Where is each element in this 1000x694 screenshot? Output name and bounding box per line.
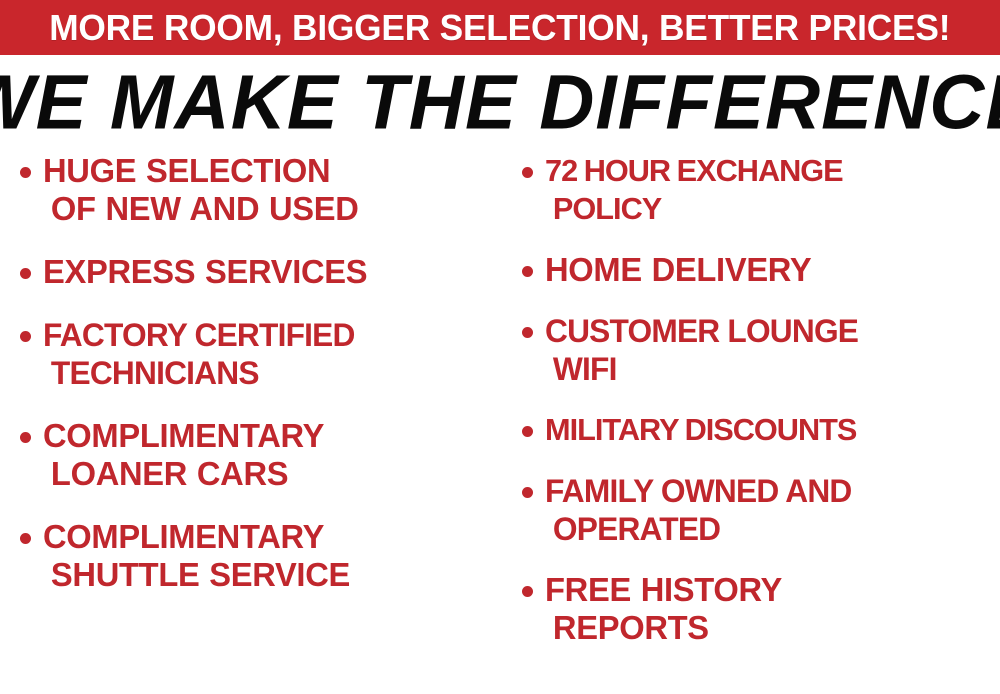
list-item-line: HUGE SELECTION bbox=[43, 152, 488, 190]
list-item: COMPLIMENTARY LOANER CARS bbox=[20, 417, 492, 493]
list-item-line: TECHNICIANS bbox=[43, 354, 488, 392]
bullet-dot-icon bbox=[20, 331, 31, 342]
bullet-dot-icon bbox=[522, 167, 533, 178]
list-item-label: EXPRESS SERVICES bbox=[43, 253, 488, 291]
bullet-dot-icon bbox=[522, 266, 533, 277]
list-item-label: FACTORY CERTIFIED TECHNICIANS bbox=[43, 316, 488, 392]
bullet-dot-icon bbox=[20, 432, 31, 443]
list-item: CUSTOMER LOUNGE WIFI bbox=[522, 312, 996, 388]
bullet-dot-icon bbox=[522, 426, 533, 437]
list-item-label: COMPLIMENTARY LOANER CARS bbox=[43, 417, 488, 493]
list-item: FAMILY OWNED AND OPERATED bbox=[522, 472, 996, 548]
banner-headline-text: MORE ROOM, BIGGER SELECTION, BETTER PRIC… bbox=[49, 10, 950, 46]
list-item-label: HUGE SELECTION OF NEW AND USED bbox=[43, 152, 488, 228]
list-item: FREE HISTORY REPORTS bbox=[522, 571, 996, 647]
list-item-label: FAMILY OWNED AND OPERATED bbox=[545, 472, 991, 548]
bullet-dot-icon bbox=[20, 167, 31, 178]
list-item-line: EXPRESS SERVICES bbox=[43, 253, 488, 291]
benefits-column-right: 72 HOUR EXCHANGE POLICY HOME DELIVERY CU… bbox=[500, 152, 1000, 694]
list-item: MILITARY DISCOUNTS bbox=[522, 411, 996, 449]
list-item-line: SHUTTLE SERVICE bbox=[43, 556, 488, 594]
list-item-line: 72 HOUR EXCHANGE bbox=[545, 152, 991, 190]
list-item-label: COMPLIMENTARY SHUTTLE SERVICE bbox=[43, 518, 488, 594]
list-item-label: HOME DELIVERY bbox=[545, 251, 991, 289]
list-item-line: LOANER CARS bbox=[43, 455, 488, 493]
list-item-label: MILITARY DISCOUNTS bbox=[545, 411, 991, 449]
benefits-column-left: HUGE SELECTION OF NEW AND USED EXPRESS S… bbox=[0, 152, 500, 694]
list-item: HOME DELIVERY bbox=[522, 251, 996, 289]
list-item-label: 72 HOUR EXCHANGE POLICY bbox=[545, 152, 991, 228]
top-banner: MORE ROOM, BIGGER SELECTION, BETTER PRIC… bbox=[0, 0, 1000, 55]
list-item-line: COMPLIMENTARY bbox=[43, 417, 488, 455]
bullet-dot-icon bbox=[522, 586, 533, 597]
list-item-line: MILITARY DISCOUNTS bbox=[545, 411, 991, 449]
list-item-line: WIFI bbox=[545, 350, 991, 388]
list-item-line: COMPLIMENTARY bbox=[43, 518, 488, 556]
list-item-label: FREE HISTORY REPORTS bbox=[545, 571, 991, 647]
list-item-line: FREE HISTORY bbox=[545, 571, 991, 609]
page-title: WE MAKE THE DIFFERENCE bbox=[0, 64, 1000, 141]
bullet-dot-icon bbox=[522, 327, 533, 338]
list-item: HUGE SELECTION OF NEW AND USED bbox=[20, 152, 492, 228]
list-item-line: OPERATED bbox=[545, 510, 991, 548]
list-item-line: FAMILY OWNED AND bbox=[545, 472, 991, 510]
benefits-columns: HUGE SELECTION OF NEW AND USED EXPRESS S… bbox=[0, 152, 1000, 694]
bullet-dot-icon bbox=[20, 268, 31, 279]
list-item-line: FACTORY CERTIFIED bbox=[43, 316, 488, 354]
list-item-line: HOME DELIVERY bbox=[545, 251, 991, 289]
headline-container: WE MAKE THE DIFFERENCE bbox=[0, 62, 1000, 144]
list-item: FACTORY CERTIFIED TECHNICIANS bbox=[20, 316, 492, 392]
bullet-dot-icon bbox=[20, 533, 31, 544]
list-item: 72 HOUR EXCHANGE POLICY bbox=[522, 152, 996, 228]
list-item-line: POLICY bbox=[545, 190, 991, 228]
list-item-line: OF NEW AND USED bbox=[43, 190, 488, 228]
list-item: EXPRESS SERVICES bbox=[20, 253, 492, 291]
list-item-line: CUSTOMER LOUNGE bbox=[545, 312, 991, 350]
list-item: COMPLIMENTARY SHUTTLE SERVICE bbox=[20, 518, 492, 594]
bullet-dot-icon bbox=[522, 487, 533, 498]
list-item-line: REPORTS bbox=[545, 609, 991, 647]
promo-poster: MORE ROOM, BIGGER SELECTION, BETTER PRIC… bbox=[0, 0, 1000, 694]
list-item-label: CUSTOMER LOUNGE WIFI bbox=[545, 312, 991, 388]
